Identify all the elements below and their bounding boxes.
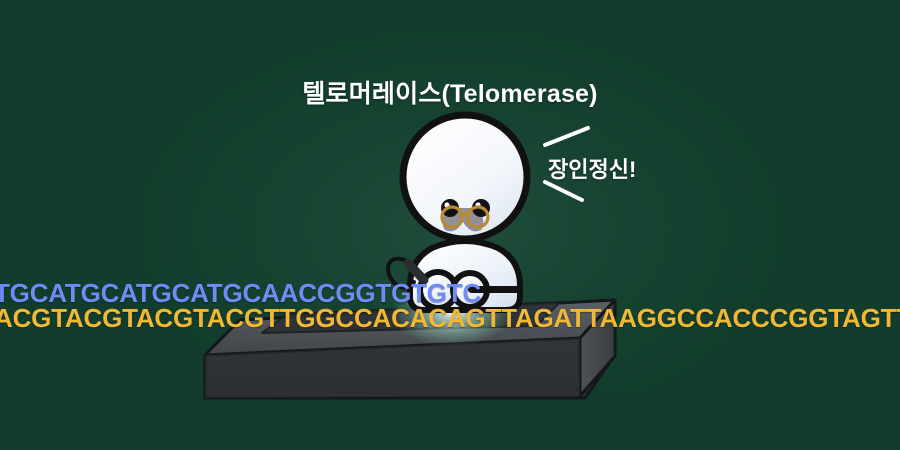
illustration-svg — [0, 0, 900, 450]
dna-strand-bottom: ACGTACGTACGTACGTTGGCCACACAGTTAGATTAAGGCC… — [0, 303, 900, 334]
character-head — [403, 115, 527, 239]
scene-canvas: 텔로머레이스(Telomerase) — [0, 0, 900, 450]
speech-text: 장인정신! — [548, 152, 636, 184]
